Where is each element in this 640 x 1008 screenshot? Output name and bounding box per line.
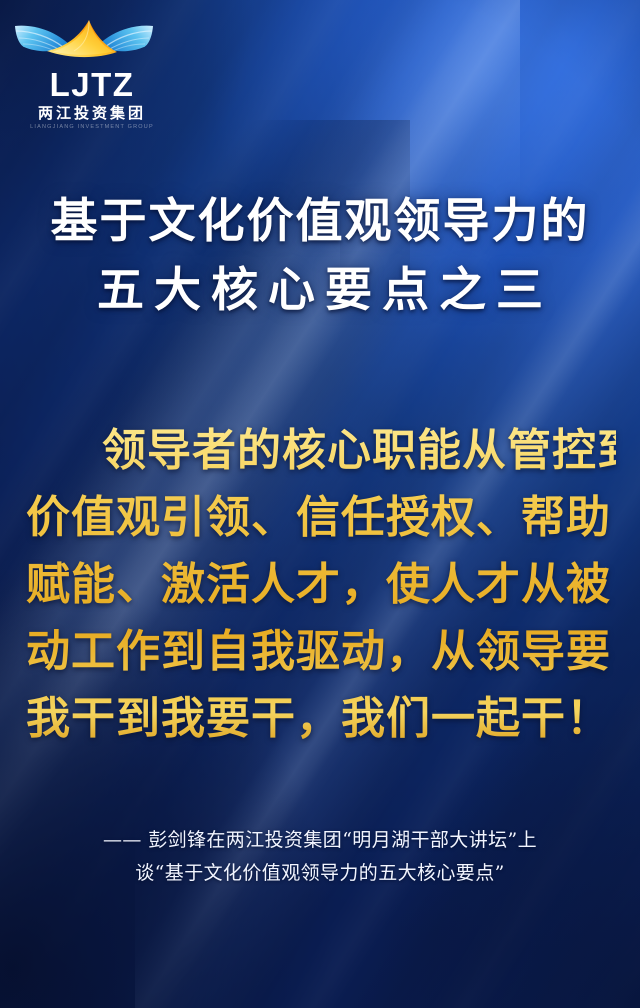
attribution-line-2: 谈“基于文化价值观领导力的五大核心要点” <box>0 857 640 890</box>
quote-line-4: 动工作到自我驱动，从领导要 <box>26 619 616 686</box>
quote-line-3: 赋能、激活人才，使人才从被 <box>26 552 616 619</box>
attribution: —— 彭剑锋在两江投资集团“明月湖干部大讲坛”上 谈“基于文化价值观领导力的五大… <box>0 824 640 889</box>
logo-company-name-en: LIANGJIANG INVESTMENT GROUP <box>14 124 164 131</box>
quote-text: 领导者的核心职能从管控到 价值观引领、信任授权、帮助 赋能、激活人才，使人才从被… <box>26 418 616 752</box>
headline-line-1: 基于文化价值观领导力的 <box>0 188 640 257</box>
attribution-line-1: —— 彭剑锋在两江投资集团“明月湖干部大讲坛”上 <box>0 824 640 857</box>
company-logo: LJTZ 两江投资集团 LIANGJIANG INVESTMENT GROUP <box>14 16 164 131</box>
logo-company-name-cn: 两江投资集团 <box>14 104 164 122</box>
headline-line-2: 五大核心要点之三 <box>0 257 640 326</box>
quote-line-5: 我干到我要干，我们一起干！ <box>26 686 616 753</box>
ljtz-wing-swoosh-icon <box>14 16 154 66</box>
quote-line-2: 价值观引领、信任授权、帮助 <box>26 485 616 552</box>
headline: 基于文化价值观领导力的 五大核心要点之三 <box>0 188 640 325</box>
logo-wordmark: LJTZ <box>14 68 164 101</box>
quote-line-1: 领导者的核心职能从管控到 <box>26 418 616 485</box>
poster-canvas: LJTZ 两江投资集团 LIANGJIANG INVESTMENT GROUP … <box>0 0 640 1008</box>
